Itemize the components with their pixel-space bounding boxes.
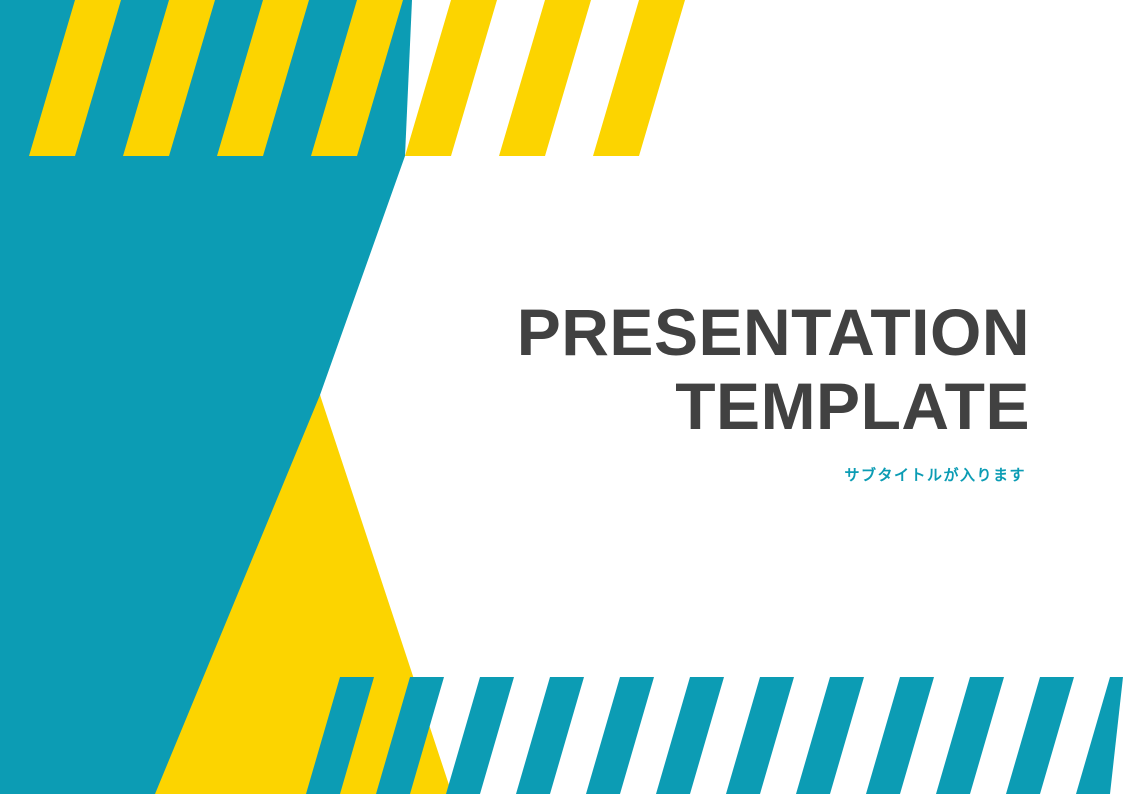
page-subtitle: サブタイトルが入ります: [430, 465, 1026, 485]
stripe-bottom-5: [586, 677, 654, 794]
presentation-title-slide: PRESENTATION TEMPLATE サブタイトルが入ります: [0, 0, 1123, 794]
page-title-line-2: TEMPLATE: [430, 369, 1030, 443]
stripe-top-6: [499, 0, 591, 156]
stripe-bottom-10: [936, 677, 1004, 794]
stripe-bottom-7: [726, 677, 794, 794]
title-text-block: PRESENTATION TEMPLATE サブタイトルが入ります: [430, 295, 1030, 485]
stripe-bottom-3: [446, 677, 514, 794]
stripe-bottom-9: [866, 677, 934, 794]
stripe-bottom-12: [1076, 677, 1123, 794]
stripe-bottom-6: [656, 677, 724, 794]
stripe-bottom-11: [1006, 677, 1074, 794]
stripe-bottom-4: [516, 677, 584, 794]
page-title-line-1: PRESENTATION: [430, 295, 1030, 369]
stripe-top-7: [593, 0, 685, 156]
stripe-top-5: [405, 0, 497, 156]
top-decoration-group: [0, 0, 685, 156]
stripe-bottom-8: [796, 677, 864, 794]
